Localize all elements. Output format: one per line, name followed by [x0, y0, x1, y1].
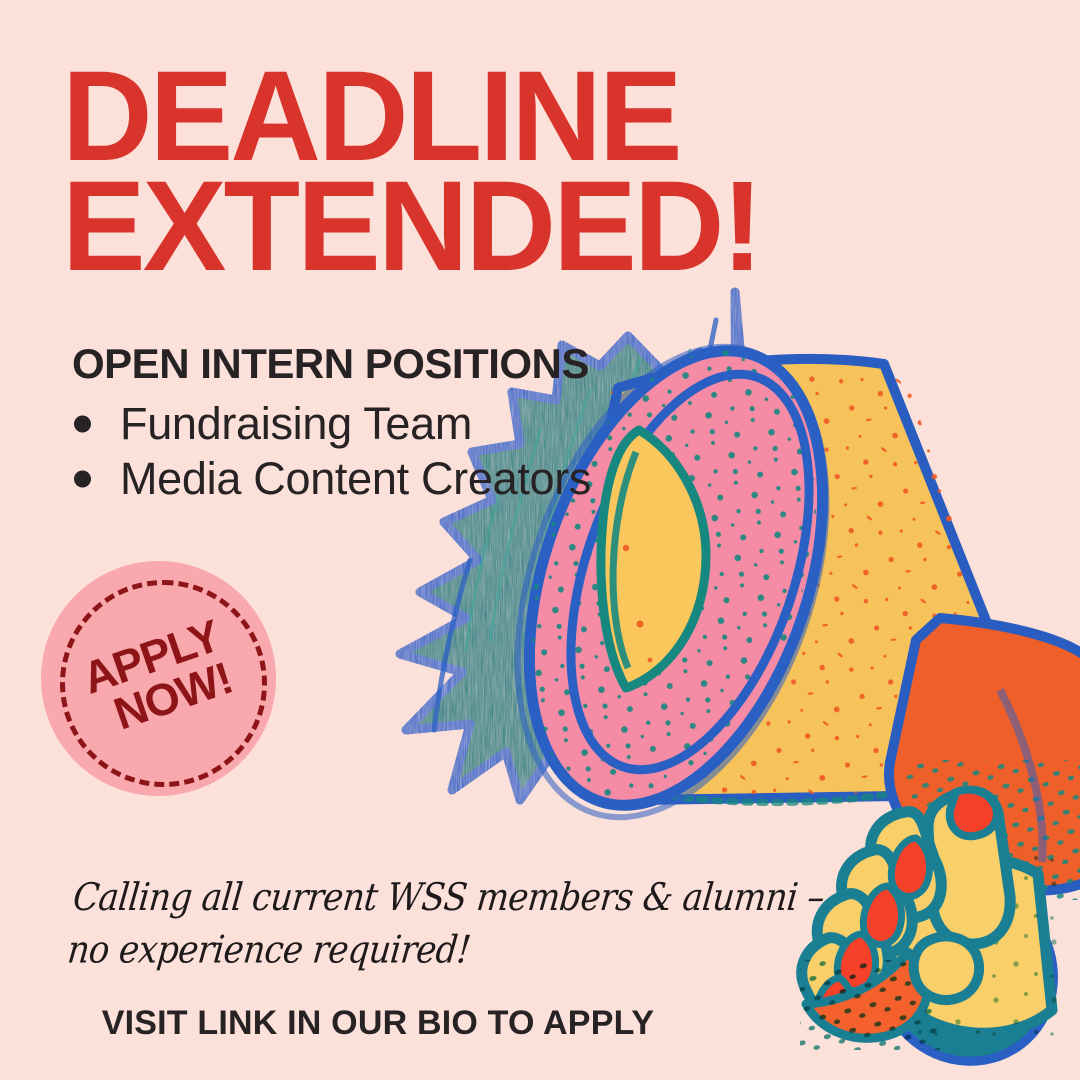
- open-positions-block: OPEN INTERN POSITIONS Fundraising Team M…: [72, 343, 692, 507]
- open-positions-list: Fundraising Team Media Content Creators: [72, 397, 692, 507]
- position-label: Fundraising Team: [120, 398, 472, 449]
- bullet-icon: [74, 471, 91, 488]
- list-item: Media Content Creators: [72, 452, 692, 507]
- text-layer: DEADLINE EXTENDED! OPEN INTERN POSITIONS…: [0, 0, 1080, 1080]
- headline: DEADLINE EXTENDED!: [62, 62, 802, 282]
- bullet-icon: [74, 416, 91, 433]
- poster-canvas: DEADLINE EXTENDED! OPEN INTERN POSITIONS…: [0, 0, 1080, 1080]
- position-label: Media Content Creators: [120, 453, 591, 504]
- list-item: Fundraising Team: [72, 397, 692, 452]
- script-note-line-2: no experience required!: [65, 925, 711, 978]
- script-note-line-1: Calling all current WSS members & alumni…: [70, 872, 716, 925]
- apply-now-badge[interactable]: APPLY NOW!: [41, 561, 276, 796]
- open-positions-title: OPEN INTERN POSITIONS: [72, 343, 692, 385]
- headline-line-2: EXTENDED!: [62, 172, 787, 282]
- script-note: Calling all current WSS members & alumni…: [65, 872, 716, 977]
- cta-text: VISIT LINK IN OUR BIO TO APPLY: [0, 1004, 756, 1043]
